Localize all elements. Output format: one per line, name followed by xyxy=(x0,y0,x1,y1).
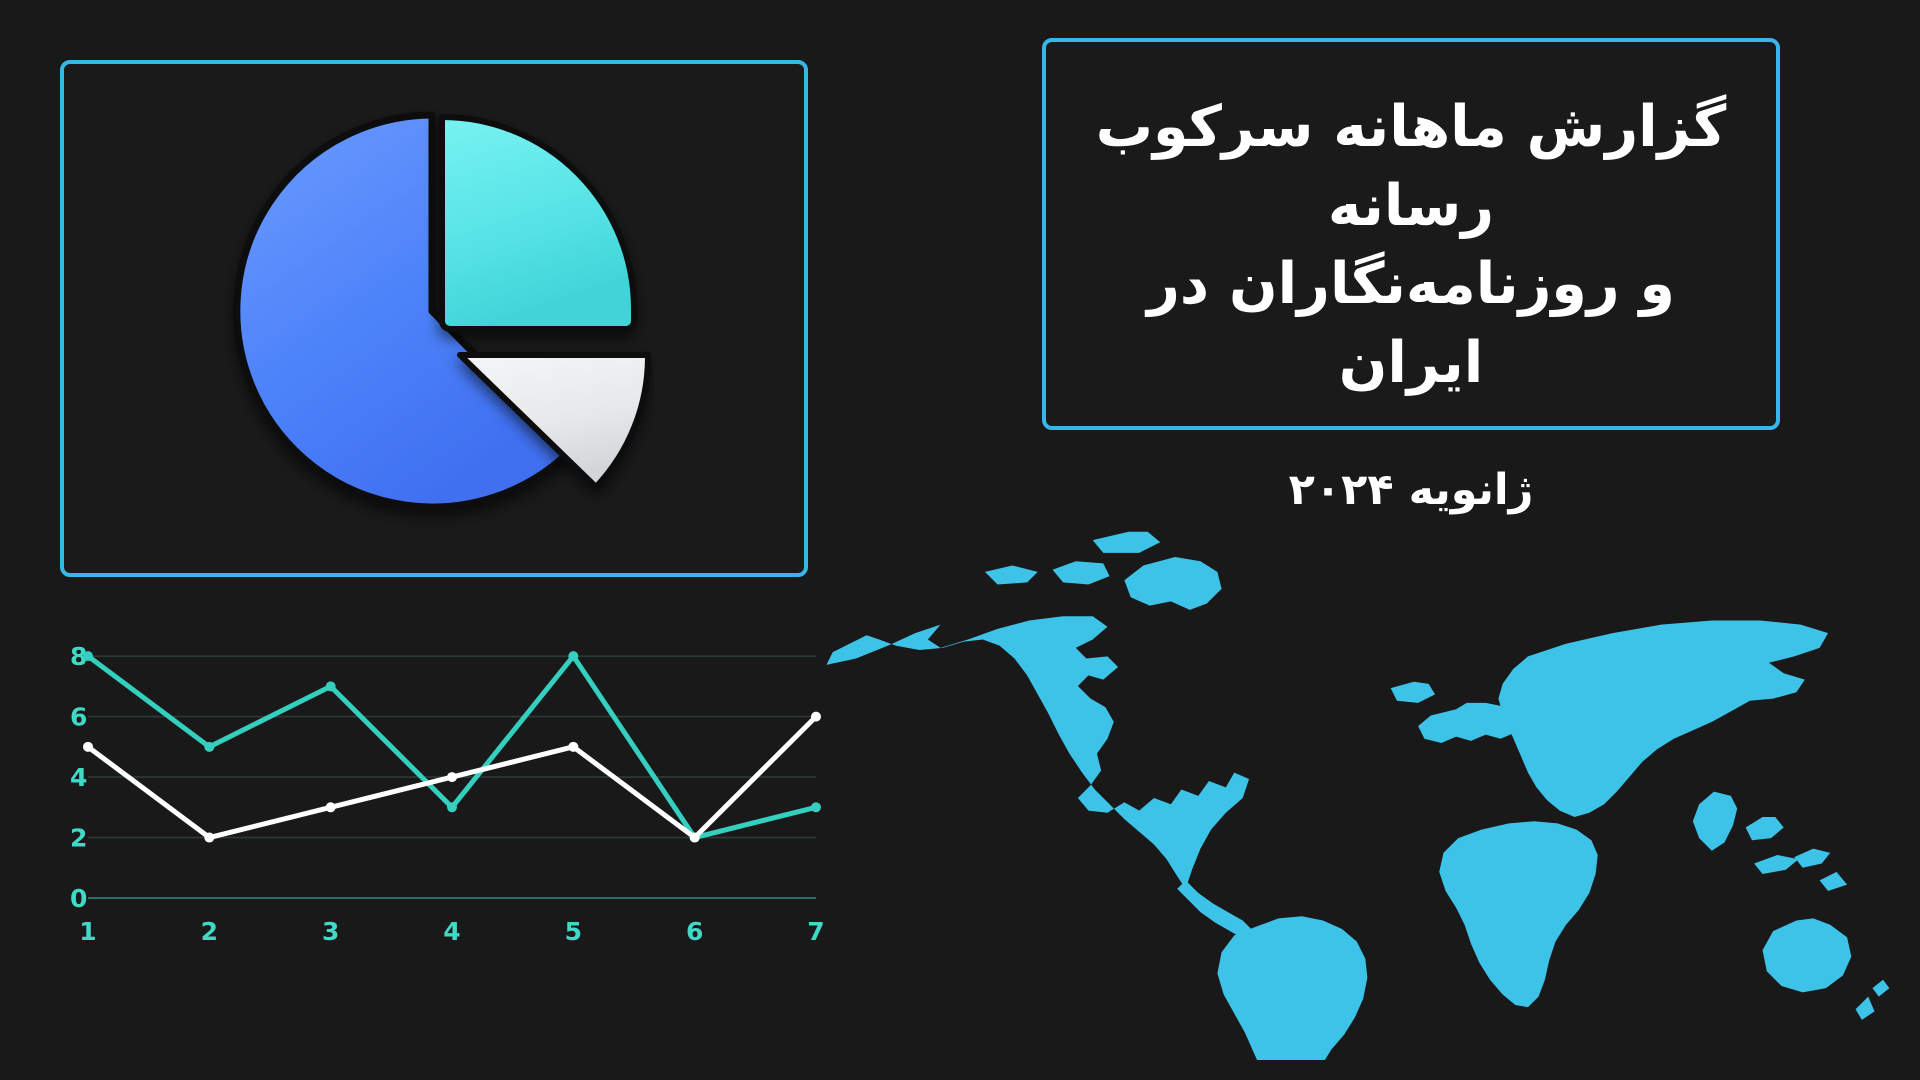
pie-chart-svg xyxy=(214,99,654,539)
data-point xyxy=(326,681,336,691)
x-axis-tick-label: 2 xyxy=(201,917,218,946)
x-axis-tick-label: 6 xyxy=(686,917,703,946)
data-point xyxy=(83,651,93,661)
title-card: گزارش ماهانه سرکوب رسانه و روزنامه‌نگارا… xyxy=(1042,38,1780,430)
data-point xyxy=(447,772,457,782)
x-axis-tick-label: 3 xyxy=(322,917,339,946)
pie-chart-card xyxy=(60,60,808,577)
x-axis-tick-label: 1 xyxy=(79,917,96,946)
data-point xyxy=(447,802,457,812)
y-axis-tick-label: 2 xyxy=(70,824,87,853)
data-point xyxy=(568,742,578,752)
data-point xyxy=(83,742,93,752)
x-axis-tick-label: 5 xyxy=(565,917,582,946)
line-chart: 024681234567 xyxy=(22,620,842,970)
page-title: گزارش ماهانه سرکوب رسانه و روزنامه‌نگارا… xyxy=(1080,88,1742,403)
pie-slice-cyan xyxy=(442,117,634,329)
pie-chart-illustration xyxy=(214,99,654,539)
x-axis-tick-label: 4 xyxy=(443,917,460,946)
y-axis-tick-label: 0 xyxy=(70,884,87,913)
data-point xyxy=(326,802,336,812)
y-axis-tick-label: 6 xyxy=(70,703,87,732)
data-point xyxy=(690,833,700,843)
world-map-svg xyxy=(820,500,1900,1060)
y-axis-tick-label: 4 xyxy=(70,763,87,792)
data-point xyxy=(568,651,578,661)
world-map xyxy=(820,500,1900,1060)
data-point xyxy=(204,742,214,752)
data-point xyxy=(204,833,214,843)
line-chart-svg: 024681234567 xyxy=(22,620,842,970)
slide-canvas: گزارش ماهانه سرکوب رسانه و روزنامه‌نگارا… xyxy=(0,0,1920,1080)
